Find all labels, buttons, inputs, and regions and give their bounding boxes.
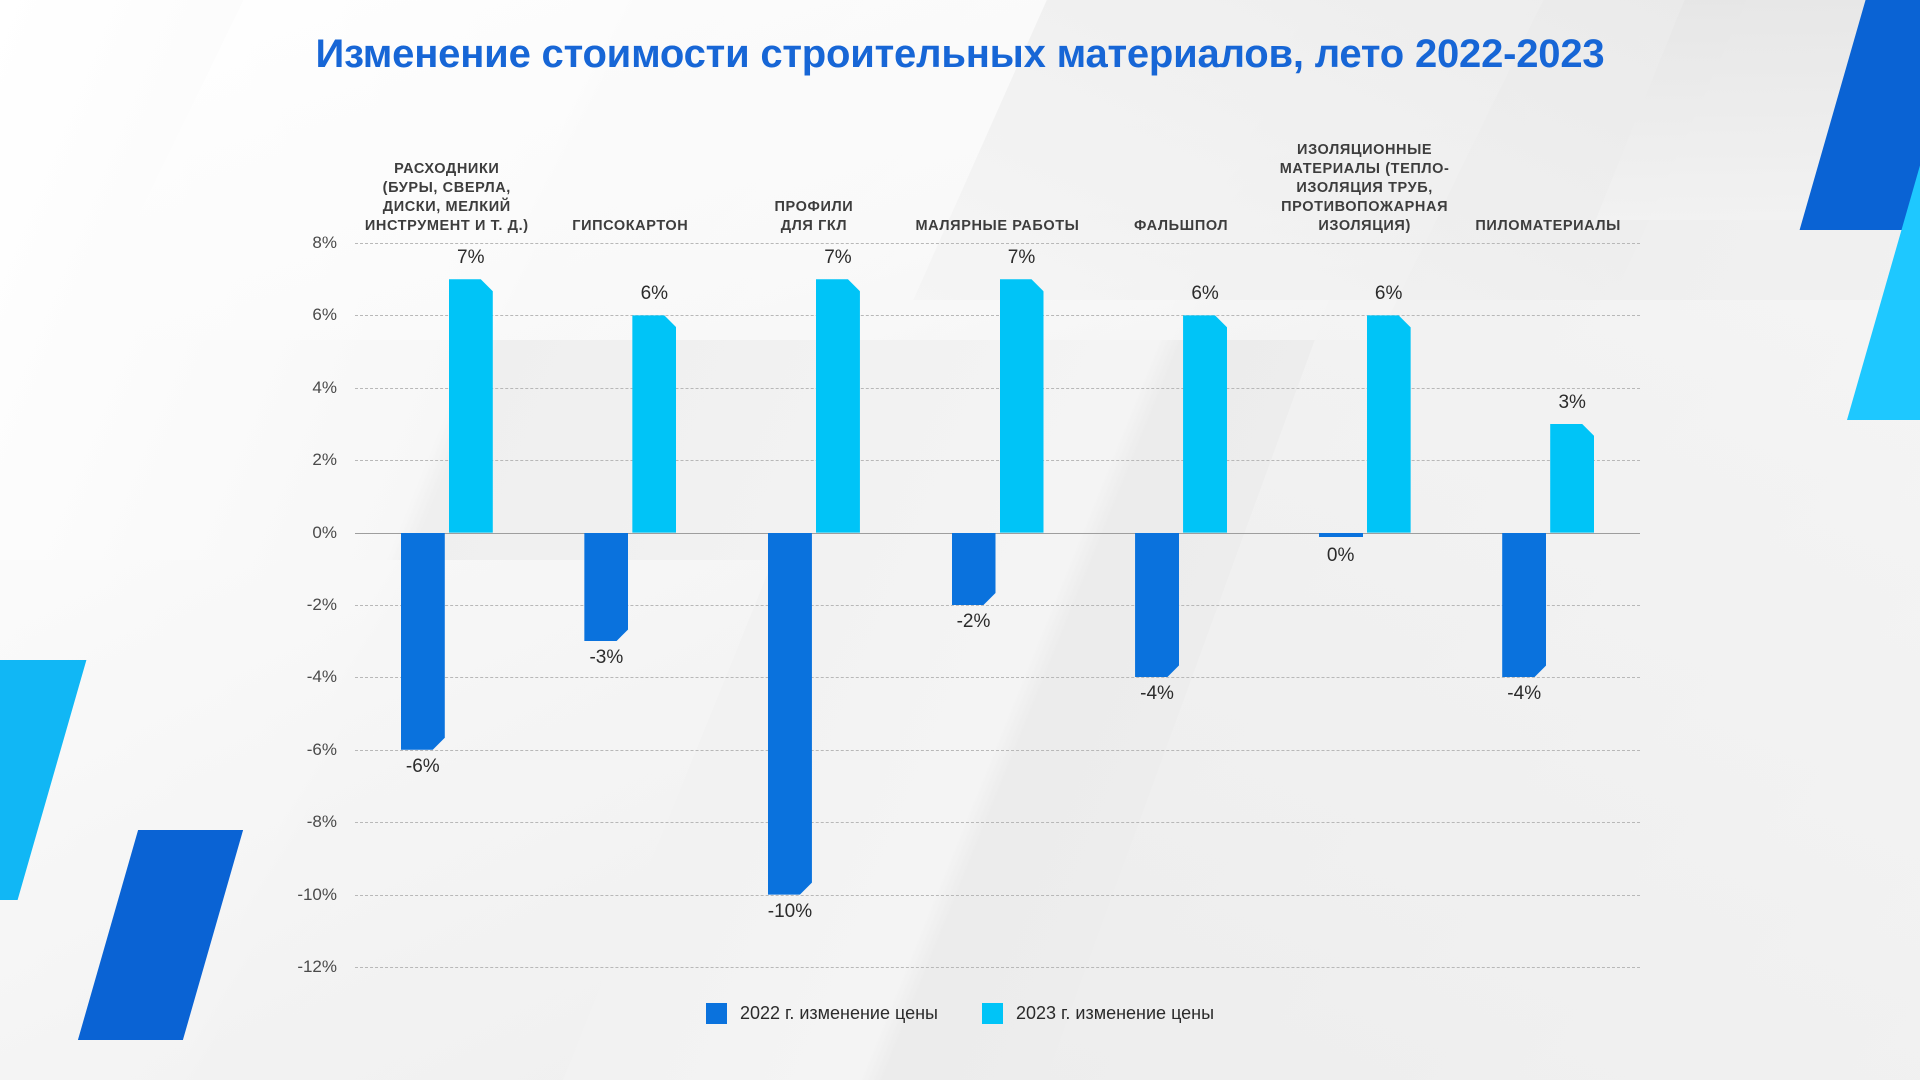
y-axis-tick-label: -2%: [277, 595, 337, 615]
bar-2022[interactable]: [401, 533, 445, 750]
bar-value-label: -3%: [589, 647, 623, 669]
bar-2022[interactable]: [584, 533, 628, 642]
bar-2022[interactable]: [1135, 533, 1179, 678]
bar-face: [632, 315, 676, 532]
bar-face: [1319, 533, 1363, 537]
legend-swatch-2023: [982, 1003, 1003, 1024]
bar-face: [401, 533, 445, 750]
bar-face: [1502, 533, 1546, 678]
bar-face: [1135, 533, 1179, 678]
bar-face: [1550, 424, 1594, 533]
bar-value-label: -4%: [1507, 683, 1541, 705]
gridline: [355, 677, 1640, 678]
bar-2023[interactable]: [1183, 315, 1227, 532]
y-axis-tick-label: -6%: [277, 740, 337, 760]
bar-value-label: -10%: [768, 901, 812, 923]
bar-face: [1000, 279, 1044, 532]
gridline: [355, 750, 1640, 751]
y-axis-tick-label: -12%: [277, 957, 337, 977]
bar-face: [1367, 315, 1411, 532]
gridline: [355, 460, 1640, 461]
bar-2023[interactable]: [1550, 424, 1594, 533]
bar-face: [768, 533, 812, 895]
bar-face: [816, 279, 860, 532]
bar-value-label: 6%: [641, 283, 668, 305]
gridline: [355, 315, 1640, 316]
gridline: [355, 243, 1640, 244]
bar-value-label: -6%: [406, 756, 440, 778]
chart-legend: 2022 г. изменение цены 2023 г. изменение…: [0, 1003, 1920, 1024]
y-axis-tick-label: -8%: [277, 812, 337, 832]
y-axis-tick-label: 4%: [277, 378, 337, 398]
bar-face: [449, 279, 493, 532]
bar-value-label: 0%: [1327, 545, 1354, 567]
bar-2022[interactable]: [952, 533, 996, 605]
bar-2022[interactable]: [768, 533, 812, 895]
bar-face: [952, 533, 996, 605]
bar-value-label: 7%: [457, 247, 484, 269]
y-axis-tick-label: -4%: [277, 667, 337, 687]
legend-swatch-2022: [706, 1003, 727, 1024]
bar-face: [584, 533, 628, 642]
bar-value-label: 7%: [1008, 247, 1035, 269]
y-axis-tick-label: 2%: [277, 450, 337, 470]
bar-value-label: 7%: [824, 247, 851, 269]
bar-2023[interactable]: [1000, 279, 1044, 532]
bar-2023[interactable]: [632, 315, 676, 532]
bar-2022[interactable]: [1319, 533, 1363, 537]
bar-2023[interactable]: [1367, 315, 1411, 532]
gridline: [355, 605, 1640, 606]
y-axis-tick-label: 6%: [277, 305, 337, 325]
category-label: ПИЛОМАТЕРИАЛЫ: [1436, 217, 1660, 236]
y-axis-tick-label: 0%: [277, 523, 337, 543]
bar-face: [1183, 315, 1227, 532]
gridline: [355, 967, 1640, 968]
bar-2022[interactable]: [1502, 533, 1546, 678]
bar-value-label: -2%: [957, 611, 991, 633]
y-axis-tick-label: -10%: [277, 885, 337, 905]
bar-2023[interactable]: [449, 279, 493, 532]
zero-axis-line: [355, 533, 1640, 534]
bar-chart: 8%6%4%2%0%-2%-4%-6%-8%-10%-12%РАСХОДНИКИ…: [0, 0, 1920, 1080]
y-axis-tick-label: 8%: [277, 233, 337, 253]
gridline: [355, 895, 1640, 896]
bar-value-label: 3%: [1558, 392, 1585, 414]
gridline: [355, 822, 1640, 823]
bar-value-label: 6%: [1375, 283, 1402, 305]
bar-value-label: -4%: [1140, 683, 1174, 705]
legend-label-2023: 2023 г. изменение цены: [1016, 1003, 1214, 1024]
gridline: [355, 388, 1640, 389]
bar-2023[interactable]: [816, 279, 860, 532]
bar-value-label: 6%: [1191, 283, 1218, 305]
legend-item-2023[interactable]: 2023 г. изменение цены: [982, 1003, 1214, 1024]
legend-label-2022: 2022 г. изменение цены: [740, 1003, 938, 1024]
legend-item-2022[interactable]: 2022 г. изменение цены: [706, 1003, 938, 1024]
